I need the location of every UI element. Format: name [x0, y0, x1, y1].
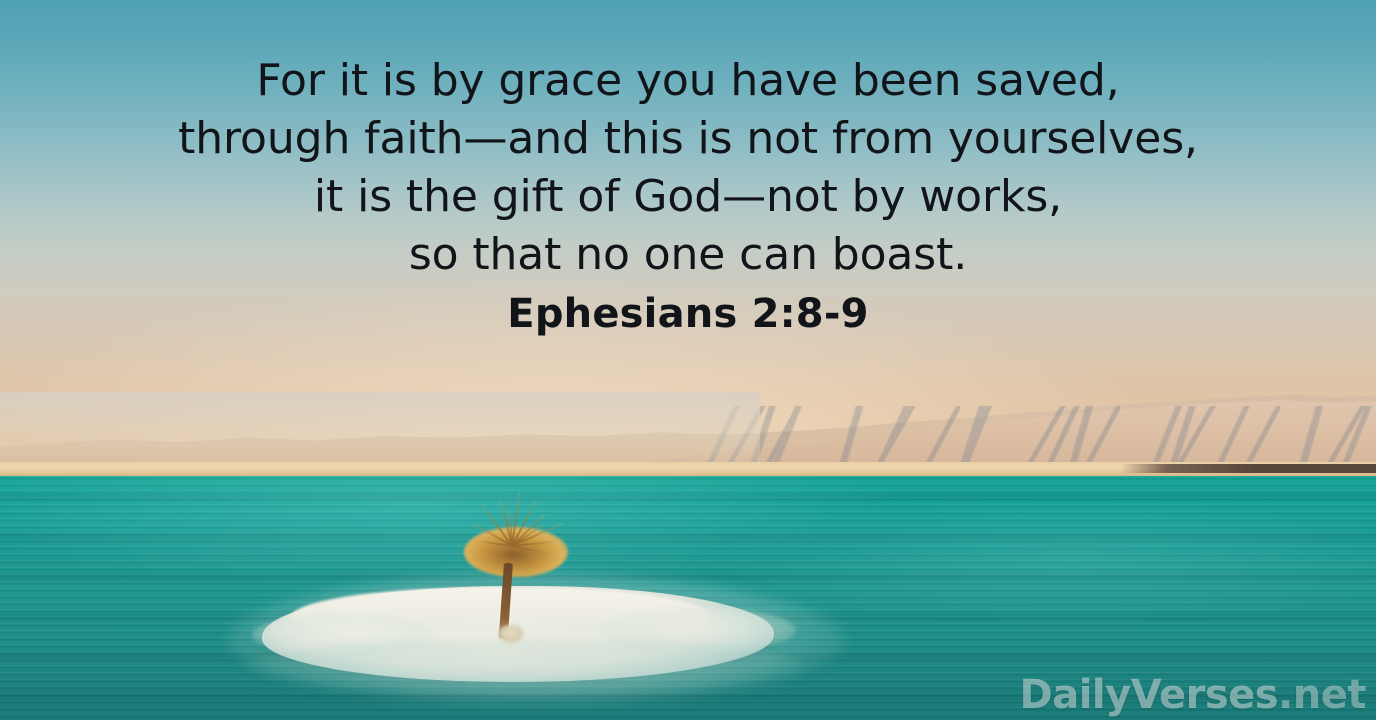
verse-line-1: For it is by grace you have been saved,: [0, 52, 1376, 110]
tree-crown: [450, 511, 582, 583]
watermark-brand: DailyVerses: [1020, 672, 1279, 718]
lone-tree: [430, 505, 610, 655]
verse-line-2: through faith—and this is not from yours…: [0, 110, 1376, 168]
verse-line-3: it is the gift of God—not by works,: [0, 168, 1376, 226]
verse-image-card: For it is by grace you have been saved, …: [0, 0, 1376, 720]
dark-shore-edge-right: [1120, 464, 1376, 473]
verse-reference: Ephesians 2:8-9: [0, 288, 1376, 340]
verse-line-4: so that no one can boast.: [0, 226, 1376, 284]
tree-trunk-base: [498, 625, 524, 643]
dailyverses-watermark: DailyVerses.net: [1020, 672, 1366, 718]
verse-text-block: For it is by grace you have been saved, …: [0, 52, 1376, 340]
watermark-tld: .net: [1278, 672, 1366, 718]
